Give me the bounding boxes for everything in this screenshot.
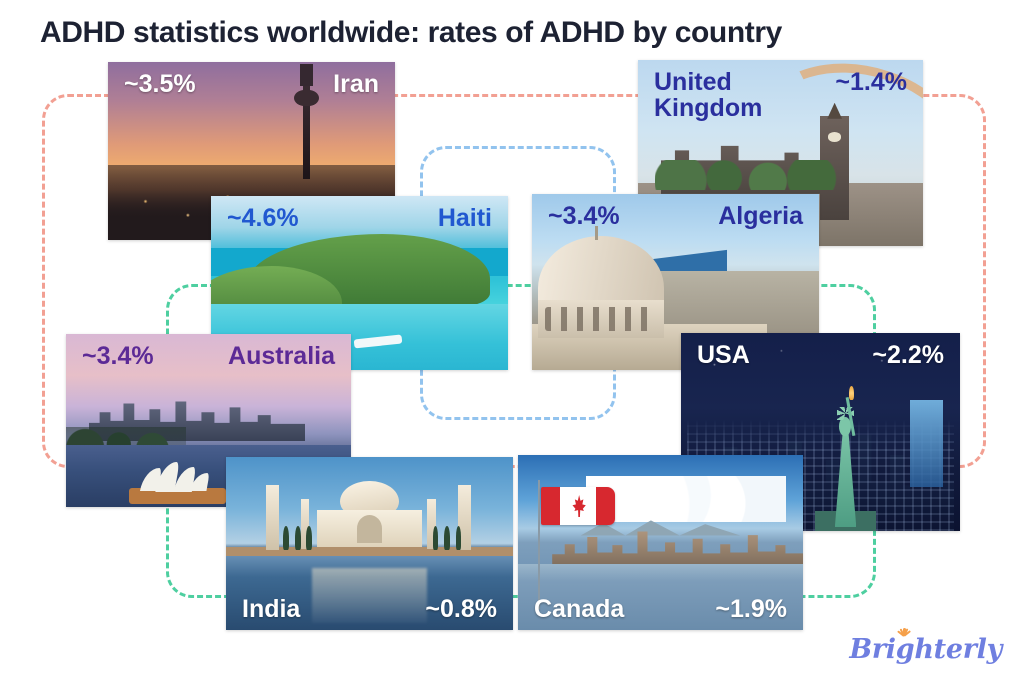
card-labels-australia: ~3.4% Australia (66, 344, 351, 370)
infographic-canvas: ADHD statistics worldwide: rates of ADHD… (0, 0, 1024, 683)
country-name-algeria: Algeria (718, 204, 803, 230)
card-labels-canada: Canada ~1.9% (518, 597, 803, 623)
rate-value-usa: ~2.2% (872, 343, 944, 369)
country-name-canada: Canada (534, 597, 624, 623)
country-name-australia: Australia (228, 344, 335, 370)
brand-name: Brighterly (849, 636, 1002, 663)
brand-logo[interactable]: Brighterly (849, 636, 1002, 663)
rate-value-algeria: ~3.4% (548, 204, 620, 230)
card-labels-iran: ~3.5% Iran (108, 72, 395, 98)
page-title: ADHD statistics worldwide: rates of ADHD… (40, 16, 782, 50)
card-labels-united-kingdom: United Kingdom ~1.4% (638, 70, 923, 121)
sunburst-icon (892, 622, 914, 636)
rate-value-iran: ~3.5% (124, 72, 196, 98)
card-labels-algeria: ~3.4% Algeria (532, 204, 819, 230)
country-name-iran: Iran (333, 72, 379, 98)
rate-value-india: ~0.8% (425, 597, 497, 623)
rate-value-haiti: ~4.6% (227, 206, 299, 232)
rate-value-australia: ~3.4% (82, 344, 154, 370)
country-name-haiti: Haiti (438, 206, 492, 232)
country-name-united-kingdom: United Kingdom (654, 70, 762, 121)
country-card-canada[interactable]: Canada ~1.9% (518, 455, 803, 630)
card-labels-india: India ~0.8% (226, 597, 513, 623)
card-labels-usa: USA ~2.2% (681, 343, 960, 369)
country-card-india[interactable]: India ~0.8% (226, 457, 513, 630)
rate-value-canada: ~1.9% (715, 597, 787, 623)
country-name-usa: USA (697, 343, 750, 369)
country-name-india: India (242, 597, 300, 623)
rate-value-united-kingdom: ~1.4% (835, 70, 907, 96)
card-labels-haiti: ~4.6% Haiti (211, 206, 508, 232)
